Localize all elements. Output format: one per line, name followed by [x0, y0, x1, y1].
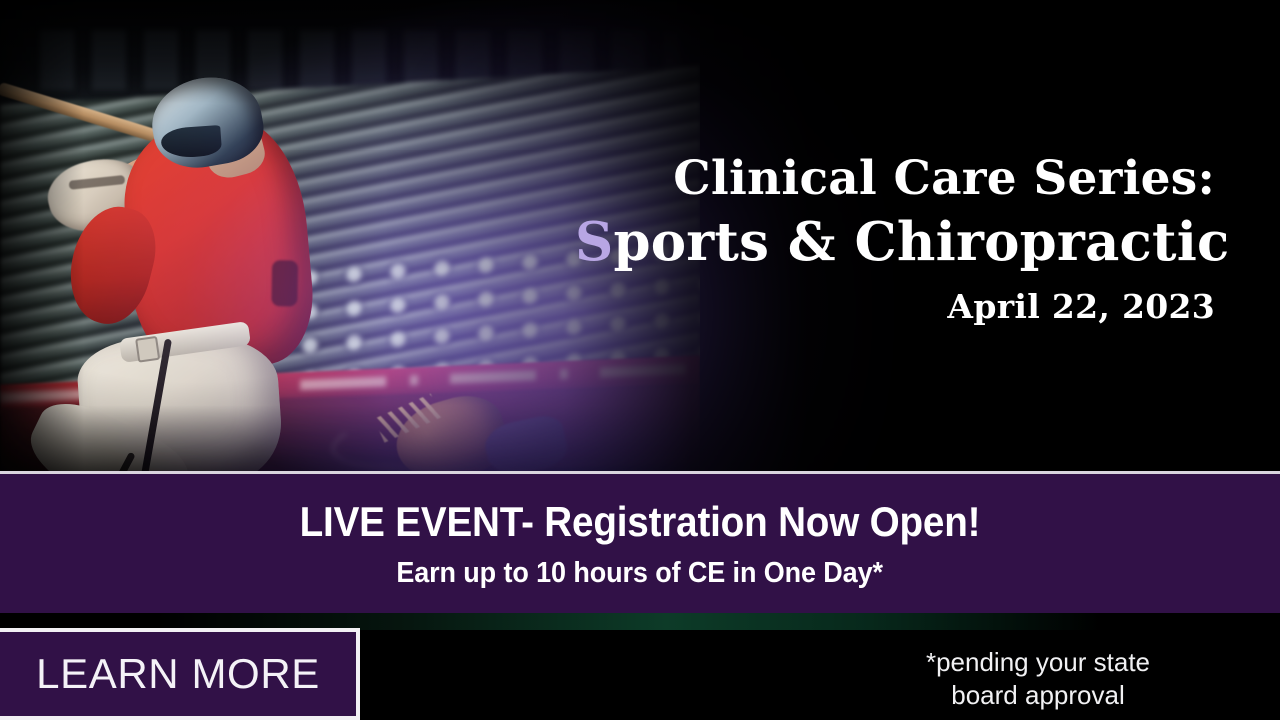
registration-banner: LIVE EVENT- Registration Now Open! Earn …	[0, 471, 1280, 613]
promo-banner-stage: Clinical Care Series: Sports & Chiroprac…	[0, 0, 1280, 720]
page-title-line-1: Clinical Care Series:	[575, 150, 1215, 208]
title-accent-letter: S	[575, 211, 613, 273]
batter-figure	[0, 0, 420, 471]
title-line-2-rest: ports & Chiropractic	[613, 211, 1229, 273]
hero-section: Clinical Care Series: Sports & Chiroprac…	[0, 0, 1280, 471]
footer-bar: LEARN MORE *pending your state board app…	[0, 613, 1280, 720]
footnote-line-2: board approval	[868, 679, 1208, 712]
page-title-line-2: Sports & Chiropractic	[575, 208, 1215, 276]
banner-headline: LIVE EVENT- Registration Now Open!	[300, 498, 981, 546]
footnote-disclaimer: *pending your state board approval	[868, 646, 1208, 712]
learn-more-button[interactable]: LEARN MORE	[0, 628, 360, 720]
learn-more-label: LEARN MORE	[36, 651, 320, 697]
banner-subheadline: Earn up to 10 hours of CE in One Day*	[397, 556, 884, 590]
footnote-line-1: *pending your state	[868, 646, 1208, 679]
event-date: April 22, 2023	[575, 288, 1215, 326]
headline-block: Clinical Care Series: Sports & Chiroprac…	[575, 150, 1215, 326]
